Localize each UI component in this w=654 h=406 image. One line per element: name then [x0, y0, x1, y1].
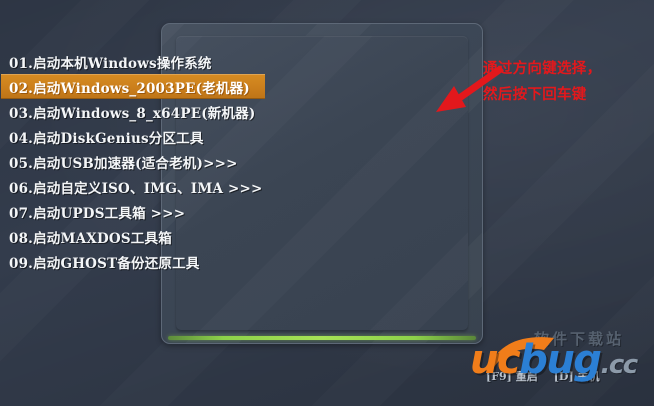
boot-menu-item-label: 09.启动GHOST备份还原工具 — [9, 252, 200, 272]
footer-key-hints: [F9] 重启 [D] 关机 — [486, 368, 646, 384]
screen: 01.启动本机Windows操作系统 02.启动Windows_2003PE(老… — [0, 0, 654, 406]
boot-menu-item-label: 02.启动Windows_2003PE(老机器) — [9, 77, 250, 97]
hint-restart: [F9] 重启 — [486, 368, 538, 384]
boot-menu-item-label: 06.启动自定义ISO、IMG、IMA >>> — [9, 177, 263, 197]
watermark: 软件下载站 ucbug.cc — [470, 326, 654, 398]
boot-menu-item-label: 04.启动DiskGenius分区工具 — [9, 127, 204, 147]
boot-menu-item-label: 08.启动MAXDOS工具箱 — [9, 227, 172, 247]
boot-menu-item-label: 01.启动本机Windows操作系统 — [9, 52, 212, 72]
annotation-line-1: 通过方向键选择， — [483, 56, 651, 82]
progress-accent-bar — [168, 336, 476, 340]
boot-menu-item-05[interactable]: 05.启动USB加速器(适合老机)>>> — [1, 149, 291, 174]
annotation-line-2: 然后按下回车键 — [483, 82, 651, 108]
boot-menu-item-label: 07.启动UPDS工具箱 >>> — [9, 202, 185, 222]
boot-menu-list[interactable]: 01.启动本机Windows操作系统 02.启动Windows_2003PE(老… — [1, 49, 291, 274]
annotation-text: 通过方向键选择， 然后按下回车键 — [483, 56, 651, 108]
boot-menu-item-label: 05.启动USB加速器(适合老机)>>> — [9, 152, 238, 172]
boot-menu-item-09[interactable]: 09.启动GHOST备份还原工具 — [1, 249, 291, 274]
boot-menu-item-06[interactable]: 06.启动自定义ISO、IMG、IMA >>> — [1, 174, 291, 199]
hint-shutdown: [D] 关机 — [554, 368, 600, 384]
boot-menu-item-03[interactable]: 03.启动Windows_8_x64PE(新机器) — [1, 99, 291, 124]
boot-menu-item-01[interactable]: 01.启动本机Windows操作系统 — [1, 49, 291, 74]
boot-menu-item-04[interactable]: 04.启动DiskGenius分区工具 — [1, 124, 291, 149]
boot-menu-item-07[interactable]: 07.启动UPDS工具箱 >>> — [1, 199, 291, 224]
boot-menu-item-02[interactable]: 02.启动Windows_2003PE(老机器) — [1, 74, 265, 99]
boot-menu-item-08[interactable]: 08.启动MAXDOS工具箱 — [1, 224, 291, 249]
swoosh-icon — [488, 334, 558, 368]
watermark-site-text: 软件下载站 — [534, 328, 624, 349]
boot-menu-item-label: 03.启动Windows_8_x64PE(新机器) — [9, 102, 255, 122]
